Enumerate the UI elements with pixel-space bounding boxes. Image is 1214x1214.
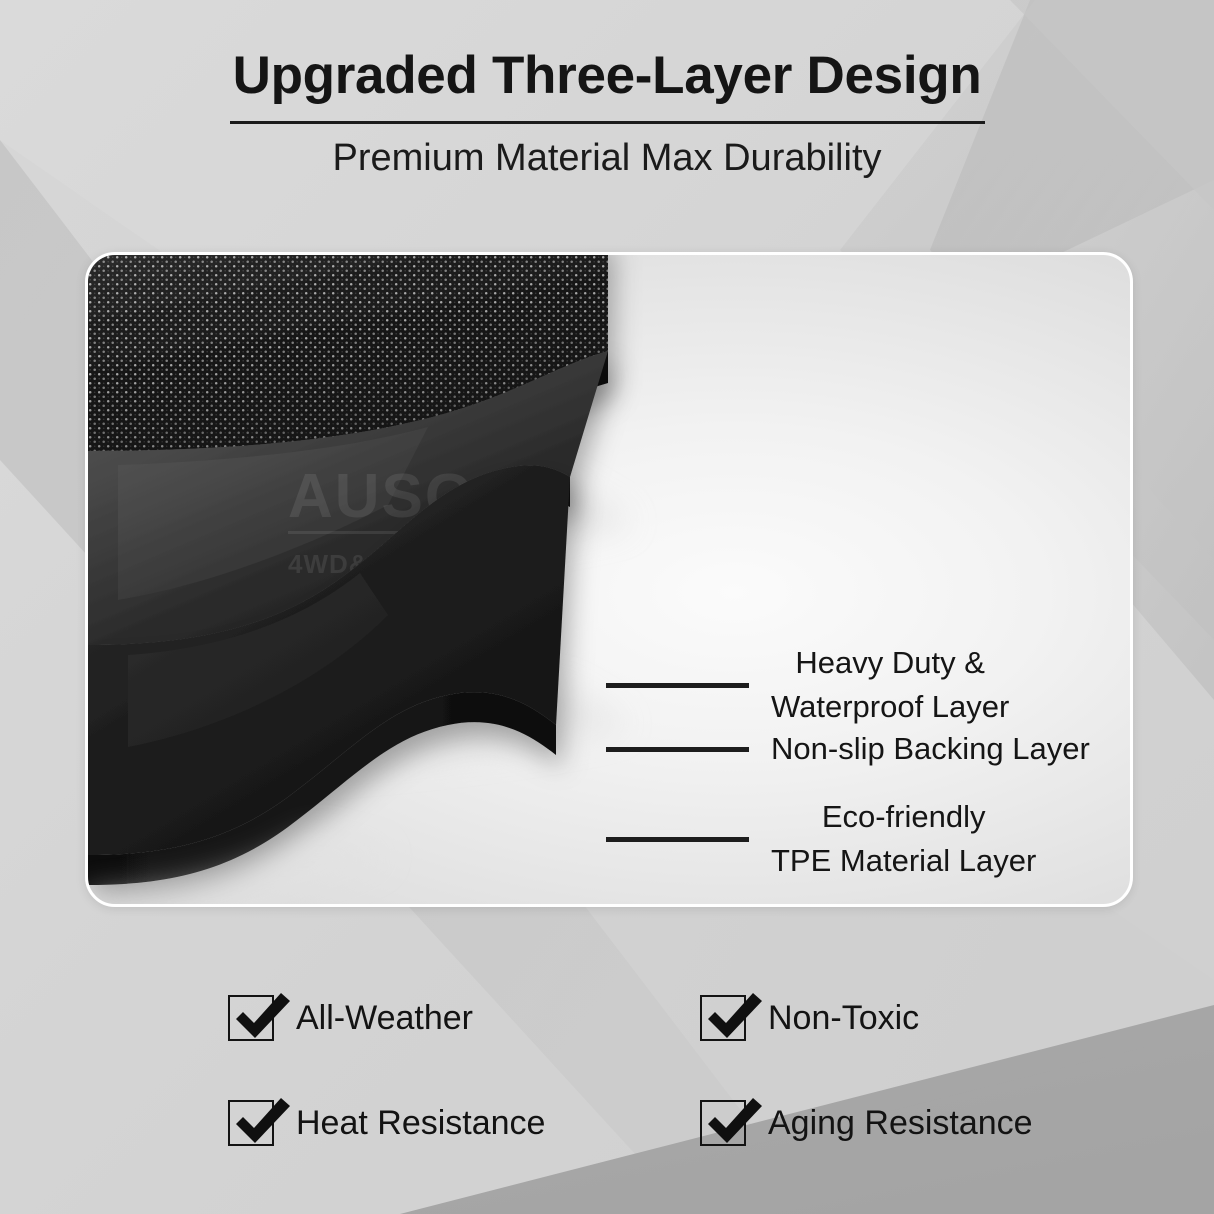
callout-label-line2: TPE Material Layer (771, 839, 1036, 883)
check-icon (227, 1088, 297, 1158)
title-divider (230, 121, 985, 124)
callout-label: Eco-friendly TPE Material Layer (771, 795, 1036, 883)
callout-label-line1: Non-slip Backing Layer (771, 727, 1090, 771)
feature-label: All-Weather (296, 999, 473, 1038)
feature-label: Aging Resistance (768, 1104, 1033, 1143)
callout-nonslip-backing-layer: Non-slip Backing Layer (606, 727, 1090, 771)
check-icon (699, 983, 769, 1053)
feature-label: Heat Resistance (296, 1104, 545, 1143)
product-layer-card: AUSGO 4WD&ACCESSORIES Heavy Duty & Water… (85, 252, 1133, 907)
feature-checklist: All-Weather Non-Toxic Heat Resistance (0, 975, 1214, 1175)
page-title: Upgraded Three-Layer Design (0, 48, 1214, 104)
checkbox-all-weather[interactable] (228, 995, 274, 1041)
checkbox-heat-resistance[interactable] (228, 1100, 274, 1146)
callout-label: Non-slip Backing Layer (771, 727, 1090, 771)
feature-heat-resistance[interactable]: Heat Resistance (228, 1100, 545, 1146)
check-icon (227, 983, 297, 1053)
callout-label-line1: Eco-friendly (771, 795, 1036, 839)
feature-aging-resistance[interactable]: Aging Resistance (700, 1100, 1033, 1146)
feature-label: Non-Toxic (768, 999, 919, 1038)
callout-label-line1: Heavy Duty & (771, 641, 1009, 685)
callout-leader-line (606, 837, 749, 842)
check-icon (699, 1088, 769, 1158)
callout-middle-layer: Eco-friendly TPE Material Layer (606, 795, 1036, 883)
checkbox-aging-resistance[interactable] (700, 1100, 746, 1146)
callout-label: Heavy Duty & Waterproof Layer (771, 641, 1009, 729)
callout-label-line2: Waterproof Layer (771, 685, 1009, 729)
callout-leader-line (606, 747, 749, 752)
callout-top-layer: Heavy Duty & Waterproof Layer (606, 641, 1009, 729)
feature-all-weather[interactable]: All-Weather (228, 995, 473, 1041)
feature-non-toxic[interactable]: Non-Toxic (700, 995, 919, 1041)
infographic-canvas: Upgraded Three-Layer Design Premium Mate… (0, 0, 1214, 1214)
header-block: Upgraded Three-Layer Design Premium Mate… (0, 48, 1214, 180)
checkbox-non-toxic[interactable] (700, 995, 746, 1041)
page-subtitle: Premium Material Max Durability (0, 138, 1214, 180)
callout-leader-line (606, 683, 749, 688)
